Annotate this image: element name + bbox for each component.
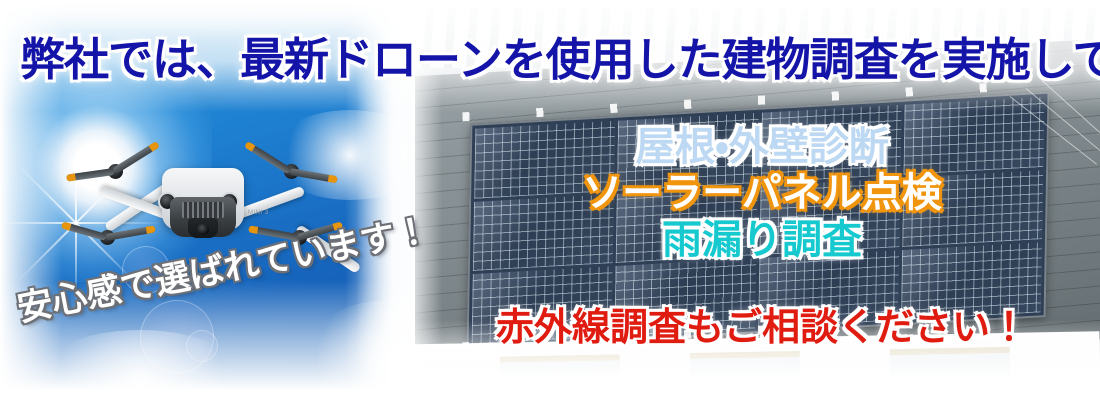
service-list: 屋根・外壁診断 ソーラーパネル点検 雨漏り調査 赤外線調査もご相談ください！ bbox=[452, 126, 1072, 261]
propeller-tip bbox=[244, 141, 255, 152]
drone-camera-lens bbox=[197, 224, 209, 235]
page-title: 弊社では、最新ドローンを使用した建物調査を実施しています。 bbox=[20, 38, 1100, 83]
propeller-tip bbox=[146, 225, 156, 233]
service-item-roof-wall: 屋根・外壁診断 bbox=[452, 126, 1072, 168]
drone-vent bbox=[182, 202, 224, 218]
propeller-tip bbox=[66, 173, 76, 181]
sky-top-fade bbox=[0, 0, 415, 40]
service-item-solar-panel: ソーラーパネル点検 bbox=[452, 172, 1072, 214]
drone-model-label: MINI 3 bbox=[248, 210, 269, 216]
propeller-tip bbox=[248, 225, 258, 233]
drone-arm bbox=[234, 186, 305, 220]
service-item-leak: 雨漏り調査 bbox=[452, 219, 1072, 261]
service-item-infrared: 赤外線調査もご相談ください！ bbox=[392, 308, 1100, 348]
promo-banner: MINI 3 弊社では、最新ドローンを使用した建物調査を実施しています。 安心感… bbox=[0, 0, 1100, 400]
